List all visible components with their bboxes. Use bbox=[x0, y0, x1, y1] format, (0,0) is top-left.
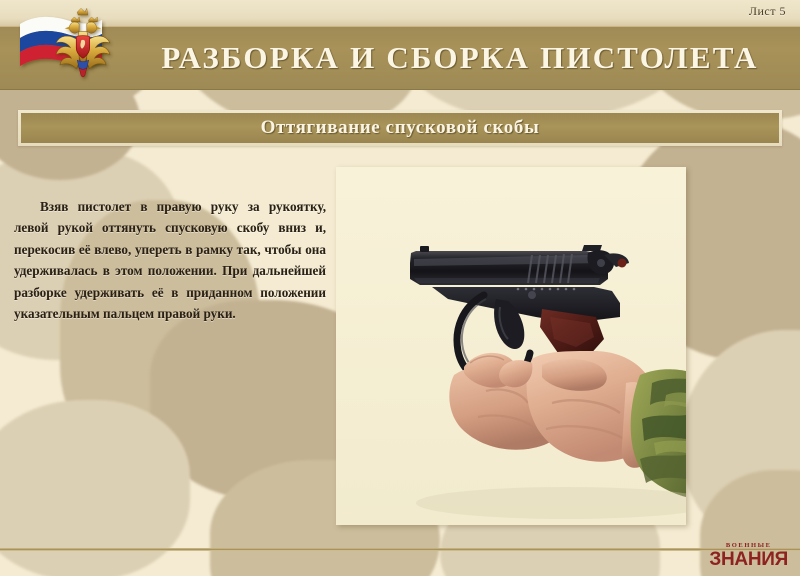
sheet-number-label: Лист 5 bbox=[749, 4, 786, 19]
russian-flag-and-mod-eagle-emblem bbox=[8, 4, 116, 88]
double-headed-eagle bbox=[56, 8, 110, 77]
photo-makarov-pistol-in-hands bbox=[336, 167, 686, 525]
subtitle-text: Оттягивание спусковой скобы bbox=[261, 117, 540, 139]
subtitle-bar: Оттягивание спусковой скобы bbox=[18, 110, 782, 146]
logo-main-text: ЗНАНИЯ bbox=[709, 550, 788, 569]
voennye-znaniya-logo: ВОЕННЫЕ ЗНАНИЯ bbox=[709, 543, 788, 569]
instruction-text-block: Взяв пистолет в правую руку за рукоятку,… bbox=[14, 196, 326, 324]
top-strip bbox=[0, 0, 800, 26]
footer-divider bbox=[0, 548, 800, 551]
page-title: РАЗБОРКА И СБОРКА ПИСТОЛЕТА bbox=[0, 26, 800, 90]
instruction-paragraph: Взяв пистолет в правую руку за рукоятку,… bbox=[14, 196, 326, 324]
slide-root: Лист 5 РАЗБОРКА И СБОРКА ПИСТОЛЕТА bbox=[0, 0, 800, 576]
illustration-photo bbox=[336, 167, 686, 525]
